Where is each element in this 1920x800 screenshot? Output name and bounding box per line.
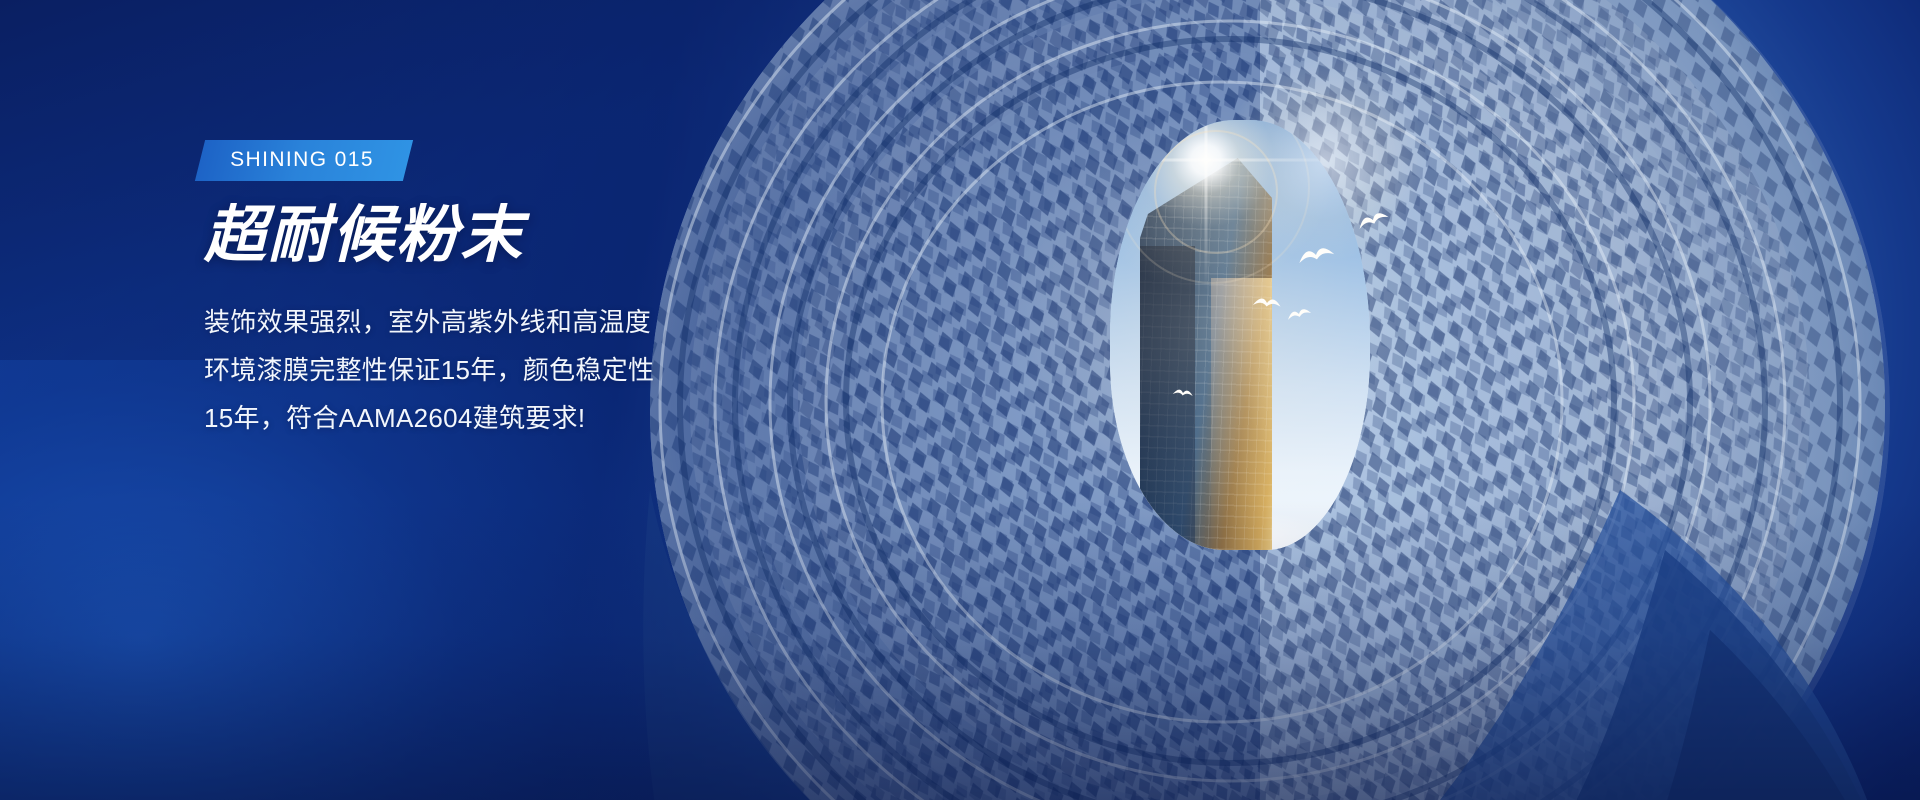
product-series-badge: SHINING 015	[195, 140, 413, 181]
building-photo-aperture	[1110, 120, 1370, 550]
page-title: 超耐候粉末	[204, 203, 820, 268]
banner-content: SHINING 015 超耐候粉末 装饰效果强烈，室外高紫外线和高温度 环境漆膜…	[200, 140, 820, 442]
badge-label: SHINING 015	[230, 148, 374, 172]
description-line: 装饰效果强烈，室外高紫外线和高温度	[204, 307, 651, 337]
description-line: 环境漆膜完整性保证15年，颜色稳定性	[204, 355, 654, 385]
glass-skyscraper	[1140, 158, 1272, 550]
product-banner: SHINING 015 超耐候粉末 装饰效果强烈，室外高紫外线和高温度 环境漆膜…	[0, 0, 1920, 800]
background-bottom-shadow	[0, 500, 1920, 800]
description-line: 15年，符合AAMA2604建筑要求!	[204, 403, 585, 433]
product-description: 装饰效果强烈，室外高紫外线和高温度 环境漆膜完整性保证15年，颜色稳定性 15年…	[204, 298, 724, 442]
